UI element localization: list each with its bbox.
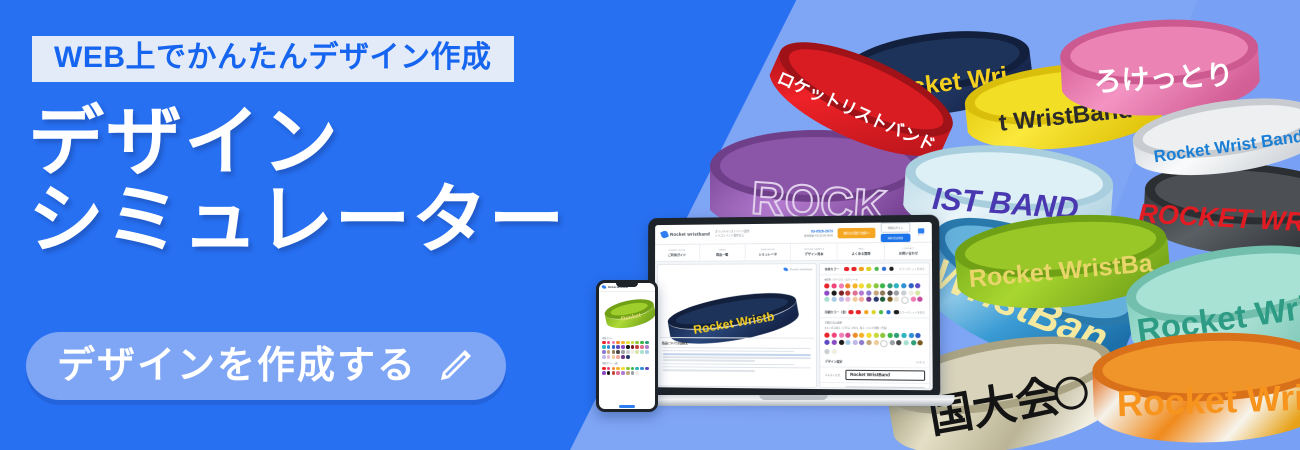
swatch[interactable] [645, 345, 649, 349]
account-buttons: 会員ログイン 無料会員登録 [880, 223, 910, 242]
color-chip[interactable] [889, 266, 894, 271]
swatch[interactable] [915, 333, 920, 338]
app-brand-name: Rocket wristband [670, 232, 710, 237]
nav-item-simulator[interactable]: SIMULATOR シミュレータ [745, 244, 791, 261]
swatch[interactable] [901, 333, 906, 338]
swatch[interactable] [917, 297, 922, 302]
swatch[interactable] [832, 284, 837, 289]
swatch[interactable] [839, 333, 844, 338]
swatch[interactable] [832, 333, 837, 338]
swatch[interactable] [873, 290, 878, 295]
swatch[interactable] [910, 297, 915, 302]
color-chip[interactable] [874, 266, 879, 271]
swatch[interactable] [880, 333, 885, 338]
color-chip[interactable] [852, 266, 857, 271]
swatch[interactable] [832, 290, 837, 295]
swatch[interactable] [901, 297, 908, 304]
swatch[interactable] [901, 283, 906, 288]
band-color-chips[interactable] [844, 266, 894, 271]
swatch[interactable] [846, 340, 851, 345]
swatch[interactable] [852, 297, 857, 302]
swatch[interactable] [889, 340, 894, 345]
swatch[interactable] [903, 340, 908, 345]
laptop-screen: Rocket wristband オリジナルリストバンド製作 シリコンバンド製作… [655, 222, 933, 390]
swatch[interactable] [911, 340, 916, 345]
rocket-icon [784, 267, 789, 272]
text-line [663, 356, 811, 359]
text-line [663, 369, 755, 371]
color-chip[interactable] [867, 266, 872, 271]
swatch[interactable] [852, 290, 857, 295]
print-color-row[interactable]: 印刷カラー（表） カラーパレットを [821, 307, 930, 318]
swatch[interactable] [880, 340, 887, 347]
color-chip[interactable] [856, 310, 861, 315]
font-select-row[interactable]: フォント選択 Noto Sans JP（日本語対応） ▾ [821, 383, 930, 389]
swatch[interactable] [859, 290, 864, 295]
swatch[interactable] [852, 340, 857, 345]
swatch[interactable] [852, 283, 857, 288]
swatch[interactable] [825, 297, 830, 302]
laptop-base [638, 395, 955, 406]
color-chip[interactable] [849, 310, 854, 315]
swatch[interactable] [640, 345, 644, 349]
register-button[interactable]: 無料会員登録 [880, 234, 910, 242]
laptop-trackpad-notch [759, 395, 827, 400]
band-color-swatches[interactable] [820, 282, 929, 308]
text-line [663, 350, 794, 352]
rocket-icon [660, 230, 669, 239]
swatch[interactable] [918, 340, 923, 345]
band-preview-3d: Rocket Wristb [664, 291, 803, 344]
swatch[interactable] [645, 350, 649, 354]
banner-eyebrow: WEB上でかんたんデザイン作成 [32, 36, 514, 82]
pencil-icon [435, 346, 475, 386]
app-logo[interactable]: Rocket wristband [661, 231, 710, 238]
text-line [663, 360, 755, 362]
swatch[interactable] [838, 290, 843, 295]
create-design-button[interactable]: デザインを作成する [26, 332, 506, 400]
product-description: 商品についての説明文 [660, 337, 815, 386]
color-chip[interactable] [864, 310, 869, 315]
swatch[interactable] [894, 290, 899, 295]
swatch[interactable] [873, 340, 878, 345]
swatch[interactable] [887, 283, 892, 288]
swatch[interactable] [866, 297, 871, 302]
login-button[interactable]: 会員ログイン [880, 223, 910, 233]
nav-item-items[interactable]: ITEMS 商品一覧 [700, 244, 745, 260]
swatch[interactable] [880, 283, 885, 288]
swatch[interactable] [859, 297, 864, 302]
swatch[interactable] [894, 297, 899, 302]
swatch[interactable] [825, 349, 830, 354]
swatch[interactable] [866, 290, 871, 295]
swatch[interactable] [645, 367, 649, 371]
color-chip[interactable] [886, 310, 891, 315]
swatch[interactable] [894, 333, 899, 338]
color-chip[interactable] [882, 266, 887, 271]
swatch[interactable] [873, 283, 878, 288]
swatch[interactable] [887, 297, 892, 302]
wristband-orange-band-text: Rocket Wri [1116, 377, 1300, 425]
app-header: Rocket wristband オリジナルリストバンド製作 シリコンバンド製作… [655, 222, 932, 245]
swatch[interactable] [845, 283, 850, 288]
swatch[interactable] [845, 333, 850, 338]
swatch[interactable] [825, 333, 830, 338]
headline-line-1: デザイン [28, 100, 340, 185]
headline-line-2: シミュレーター [28, 182, 565, 260]
swatch[interactable] [866, 283, 871, 288]
banner-root: ROCK ロケットリストバンド [0, 0, 1300, 450]
nav-item-contact[interactable]: CONTACT お問い合わせ [885, 243, 932, 260]
cart-button[interactable]: カート [916, 226, 926, 237]
banner-copy: WEB上でかんたんデザイン作成 デザイン シミュレーター デザインを作成する [0, 0, 640, 450]
design-text-input[interactable]: Rocket WristBand [846, 370, 925, 381]
wristband-white-band[interactable]: Rocket Wrist Band [1128, 88, 1300, 198]
swatch[interactable] [894, 283, 899, 288]
swatch[interactable] [915, 283, 920, 288]
swatch[interactable] [887, 333, 892, 338]
print-color-chips[interactable] [849, 310, 899, 315]
swatch[interactable] [845, 297, 850, 302]
nav-item-design-sample[interactable]: DESIGN SAMPLE デザイン見本 [791, 243, 838, 260]
text-line [663, 353, 811, 356]
app-navigation: ORDER GUIDE ご利用ガイド ITEMS 商品一覧 SIMULATOR … [655, 243, 932, 262]
swatch[interactable] [880, 290, 885, 295]
swatch[interactable] [832, 349, 837, 354]
laptop-mockup: Rocket wristband オリジナルリストバンド製作 シリコンバンド製作… [648, 218, 930, 406]
swatch[interactable] [896, 340, 901, 345]
swatch[interactable] [832, 340, 837, 345]
laptop-lid: Rocket wristband オリジナルリストバンド製作 シリコンバンド製作… [648, 215, 941, 400]
swatch[interactable] [640, 367, 644, 371]
text-line [663, 363, 794, 366]
color-chip[interactable] [859, 266, 864, 271]
swatch[interactable] [825, 340, 830, 345]
swatch[interactable] [873, 297, 878, 302]
swatch[interactable] [640, 341, 644, 345]
swatch[interactable] [859, 283, 864, 288]
swatch[interactable] [915, 290, 920, 295]
swatch[interactable] [859, 340, 864, 345]
create-design-button-label: デザインを作成する [57, 347, 417, 385]
band-color-row[interactable]: 本体カラー カラーパレットを見る [820, 263, 928, 274]
app-phone-number: 03-0526-2673 受付時間 平日10:00-18:00 [804, 229, 833, 237]
color-chip[interactable] [871, 310, 876, 315]
color-chip[interactable] [894, 310, 899, 315]
swatch[interactable] [832, 297, 837, 302]
swatch[interactable] [859, 333, 864, 338]
swatch[interactable] [825, 284, 830, 289]
swatch[interactable] [838, 297, 843, 302]
design-canvas[interactable]: Rocket wristband [657, 263, 818, 388]
swatch[interactable] [880, 297, 885, 302]
nav-item-guide[interactable]: ORDER GUIDE ご利用ガイド [655, 245, 700, 261]
swatch[interactable] [866, 333, 871, 338]
swatch[interactable] [645, 341, 649, 345]
app-tagline: オリジナルリストバンド製作 シリコンバンド製作なら [715, 230, 749, 238]
swatch[interactable] [908, 333, 913, 338]
text-line [663, 347, 811, 349]
swatch[interactable] [887, 290, 892, 295]
swatch[interactable] [825, 290, 830, 295]
text-input-row[interactable]: テキスト入力 Rocket WristBand [821, 367, 930, 384]
color-chip[interactable] [879, 310, 884, 315]
swatch[interactable] [845, 290, 850, 295]
swatch[interactable] [873, 333, 878, 338]
canvas-watermark: Rocket wristband [784, 267, 812, 271]
design-options-panel[interactable]: 本体カラー カラーパレットを見る [819, 262, 930, 389]
swatch[interactable] [901, 290, 906, 295]
nav-item-faq[interactable]: FAQ よくある質問 [838, 243, 885, 260]
swatch[interactable] [908, 283, 913, 288]
quote-button[interactable]: 無料お見積り依頼へ [838, 227, 875, 238]
print-color-swatches[interactable] [821, 331, 930, 357]
swatch[interactable] [866, 340, 871, 345]
page-title: デザイン シミュレーター [28, 104, 565, 259]
swatch[interactable] [838, 283, 843, 288]
color-chip[interactable] [844, 266, 849, 271]
app-body: Rocket wristband [655, 260, 933, 390]
swatch[interactable] [908, 290, 913, 295]
text-line [663, 366, 811, 369]
swatch[interactable] [640, 350, 644, 354]
swatch[interactable] [839, 340, 844, 345]
font-select[interactable]: Noto Sans JP（日本語対応） ▾ [846, 386, 925, 389]
wristband-orange-band[interactable]: Rocket Wri [1085, 315, 1300, 450]
swatch[interactable] [852, 333, 857, 338]
